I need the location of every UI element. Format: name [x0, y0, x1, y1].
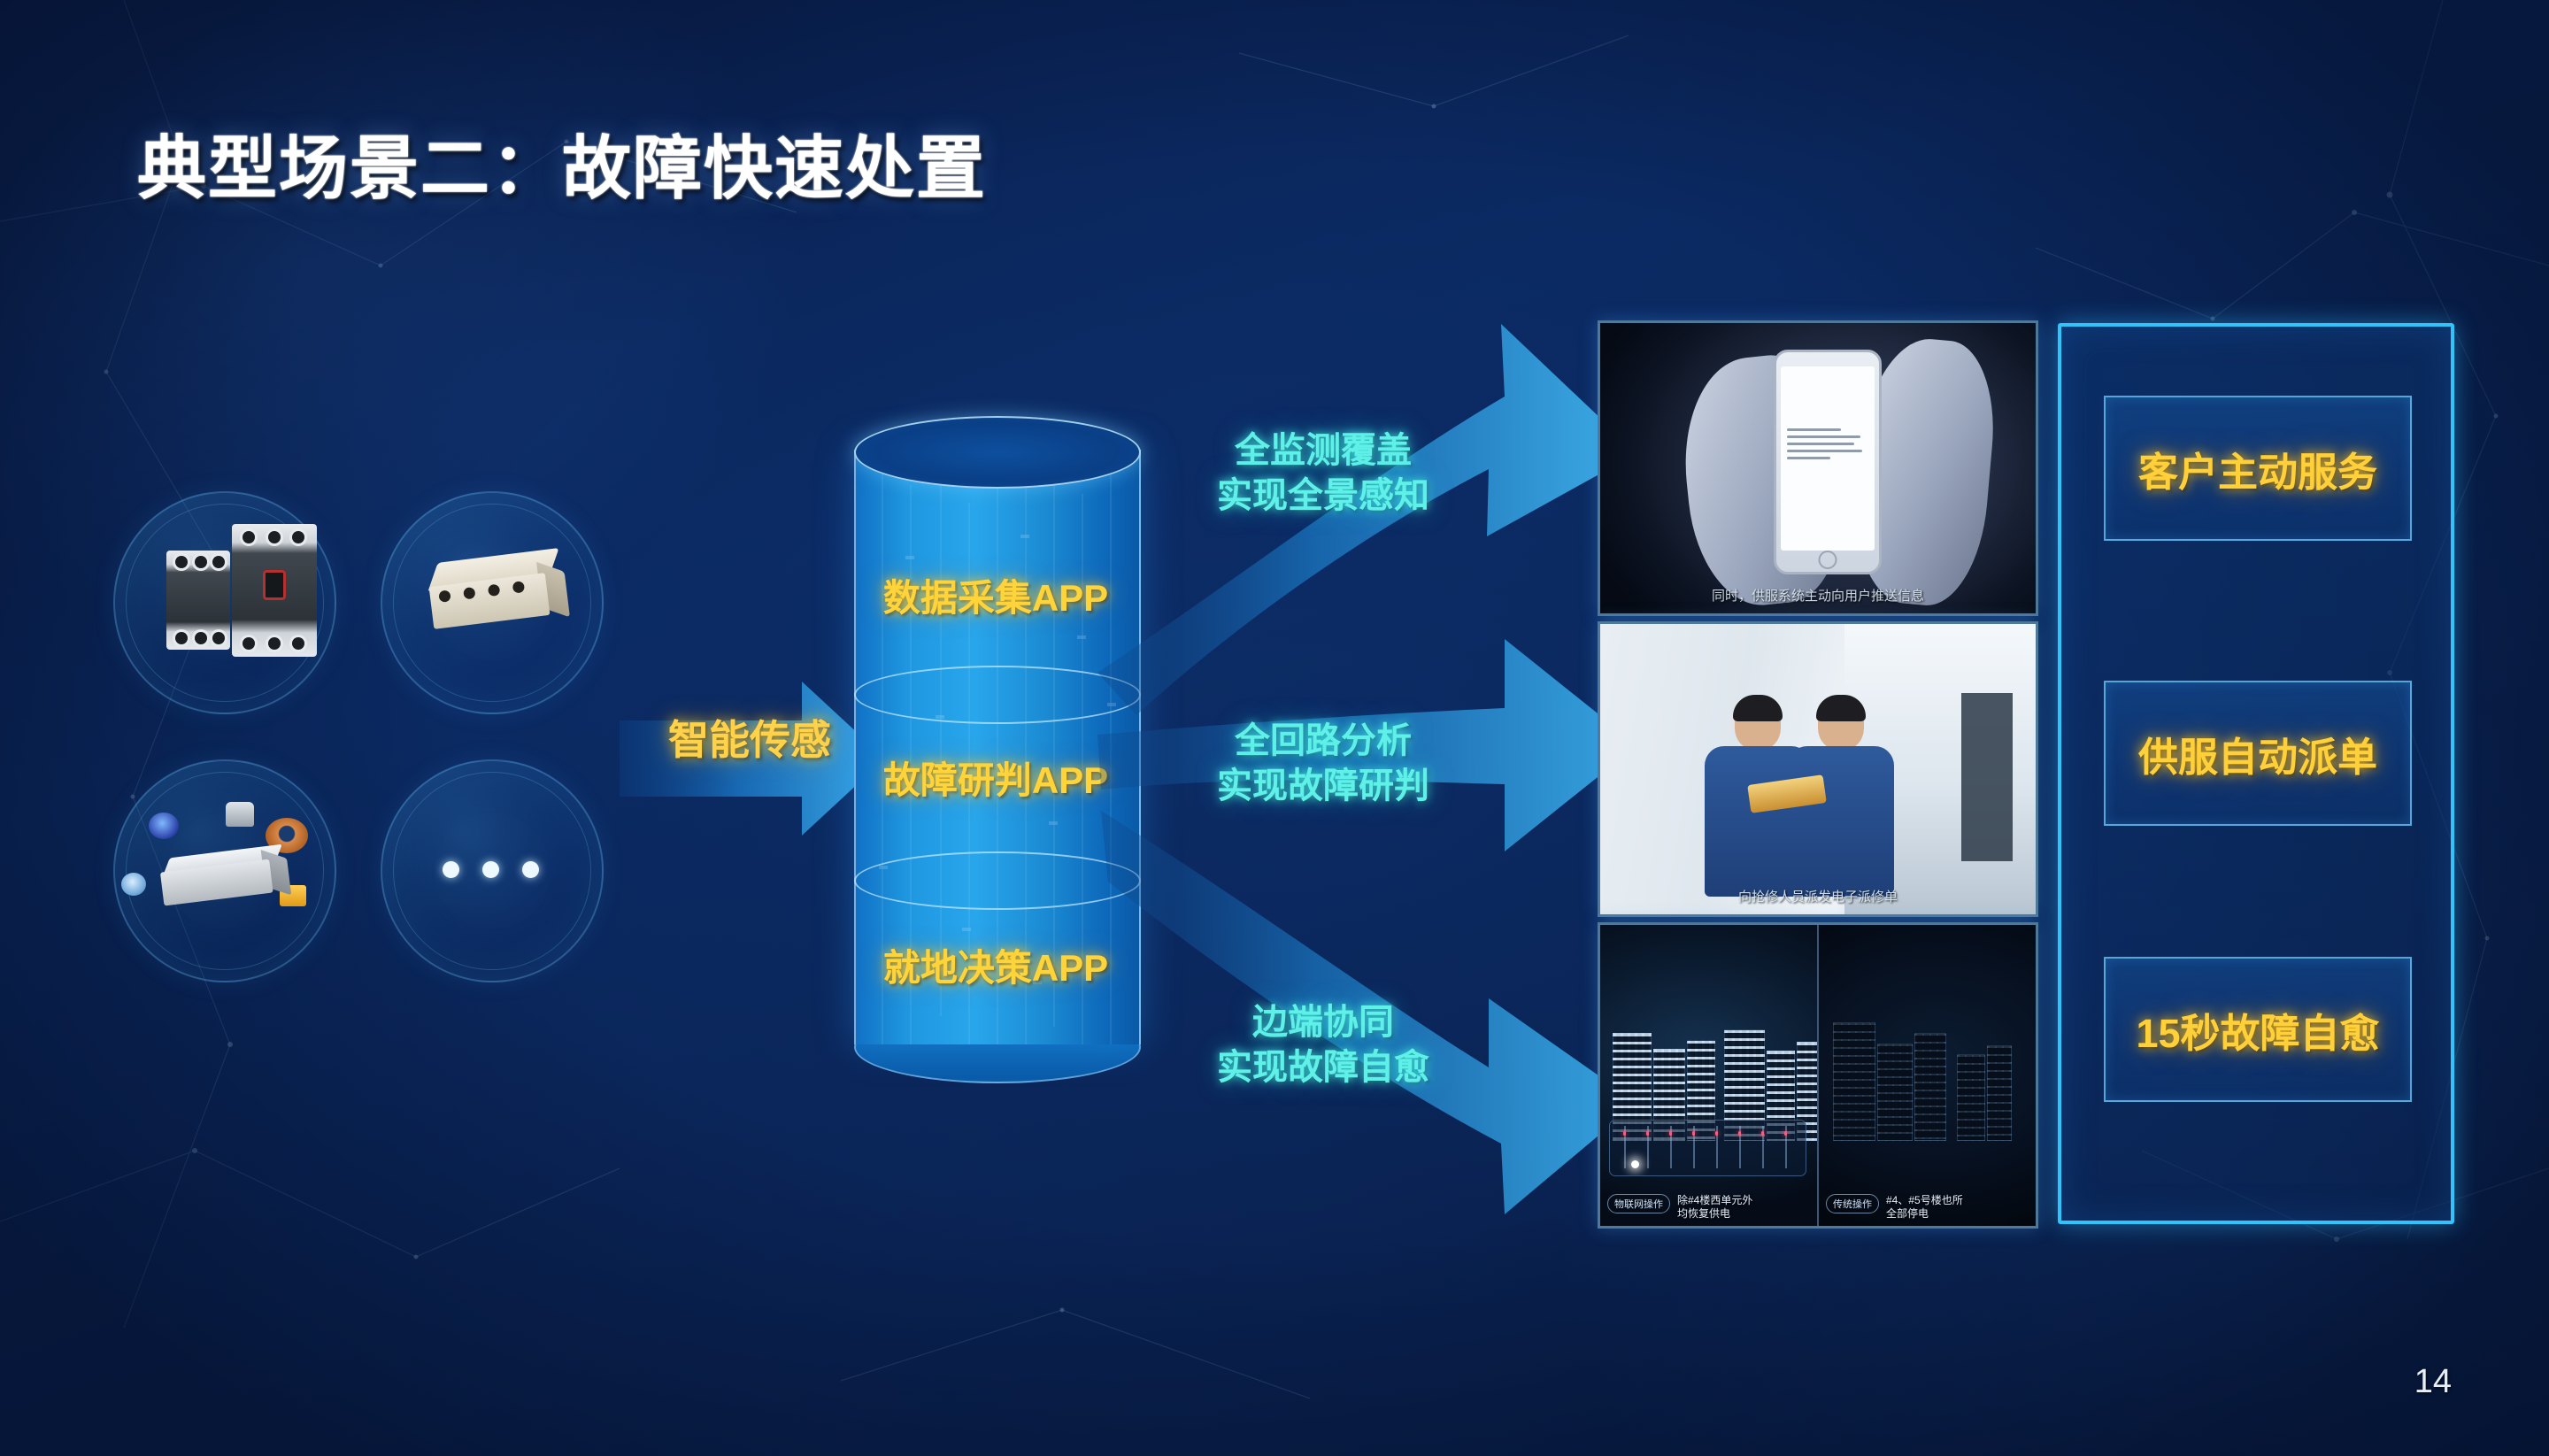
page-number: 14 [2414, 1363, 2452, 1401]
cylinder-divider-2 [854, 851, 1141, 910]
iot-operation-panel: 物联网操作 除#4楼西单元外 均恢复供电 [1600, 925, 1817, 1226]
flow-label-1: 全监测覆盖 实现全景感知 [1177, 428, 1469, 519]
iot-operation-pill: 物联网操作 [1607, 1194, 1670, 1213]
cylinder-top-cap [854, 416, 1141, 489]
mouse-cursor-glow-icon [1631, 1160, 1639, 1168]
cylinder-divider-1 [854, 666, 1141, 724]
flow-label-2-line2: 实现故障研判 [1177, 764, 1469, 809]
photo-1-caption: 同时，供服系统主动向用户推送信息 [1600, 586, 2036, 605]
intelligent-sensing-label: 智能传感 [630, 708, 869, 767]
flow-arrow-1 [1097, 324, 1637, 715]
cylinder-layer-label-1: 数据采集APP [854, 568, 1137, 622]
small-round-sensor-icon [121, 873, 146, 896]
traditional-operation-pill: 传统操作 [1826, 1194, 1879, 1213]
blue-round-sensor-icon [149, 813, 179, 839]
flow-label-2-line1: 全回路分析 [1177, 719, 1469, 764]
outcome-label-3: 15秒故障自愈 [2136, 1001, 2379, 1059]
control-slider-panel [1609, 1120, 1806, 1176]
photo-phone-push-notification: 同时，供服系统主动向用户推送信息 [1598, 320, 2038, 616]
traditional-operation-text: #4、#5号楼也所 全部停电 [1886, 1194, 1963, 1221]
outcomes-panel: 客户主动服务 供服自动派单 15秒故障自愈 [2058, 323, 2454, 1224]
cylinder-layer-label-3: 就地决策APP [854, 938, 1137, 992]
page-title: 典型场景二：故障快速处置 [137, 113, 987, 212]
circuit-breaker-small-icon [166, 551, 230, 650]
app-platform-cylinder: 数据采集APP 故障研判APP 就地决策APP [854, 416, 1137, 1080]
flow-label-1-line1: 全监测覆盖 [1177, 428, 1469, 474]
cylinder-layer-label-2: 故障研判APP [854, 751, 1137, 805]
flow-label-3-line2: 实现故障自愈 [1177, 1045, 1469, 1090]
ellipsis-dots-icon [381, 759, 600, 979]
outcome-box-3[interactable]: 15秒故障自愈 [2104, 957, 2412, 1102]
flow-label-1-line2: 实现全景感知 [1177, 474, 1469, 519]
photo-engineers-with-tablet: 向抢修人员派发电子派修单 [1598, 621, 2038, 917]
flow-label-2: 全回路分析 实现故障研判 [1177, 719, 1469, 809]
outcome-label-1: 客户主动服务 [2138, 440, 2377, 497]
circuit-breaker-large-icon [232, 524, 317, 657]
traditional-operation-panel: 传统操作 #4、#5号楼也所 全部停电 [1819, 925, 2036, 1226]
flow-label-3: 边端协同 实现故障自愈 [1177, 1000, 1469, 1090]
outcome-label-2: 供服自动派单 [2138, 725, 2377, 782]
slide-canvas: 典型场景二：故障快速处置 [0, 0, 2549, 1456]
outcome-box-1[interactable]: 客户主动服务 [2104, 396, 2412, 541]
camera-sensor-icon [226, 802, 254, 827]
photo-night-buildings-comparison: 物联网操作 除#4楼西单元外 均恢复供电 传统操作 #4、#5号楼也所 [1598, 922, 2038, 1229]
photo-2-caption: 向抢修人员派发电子派修单 [1600, 887, 2036, 905]
iot-operation-text: 除#4楼西单元外 均恢复供电 [1677, 1194, 1752, 1221]
flow-label-3-line1: 边端协同 [1177, 1000, 1469, 1045]
smartphone-icon [1774, 350, 1882, 574]
outcome-box-2[interactable]: 供服自动派单 [2104, 681, 2412, 826]
